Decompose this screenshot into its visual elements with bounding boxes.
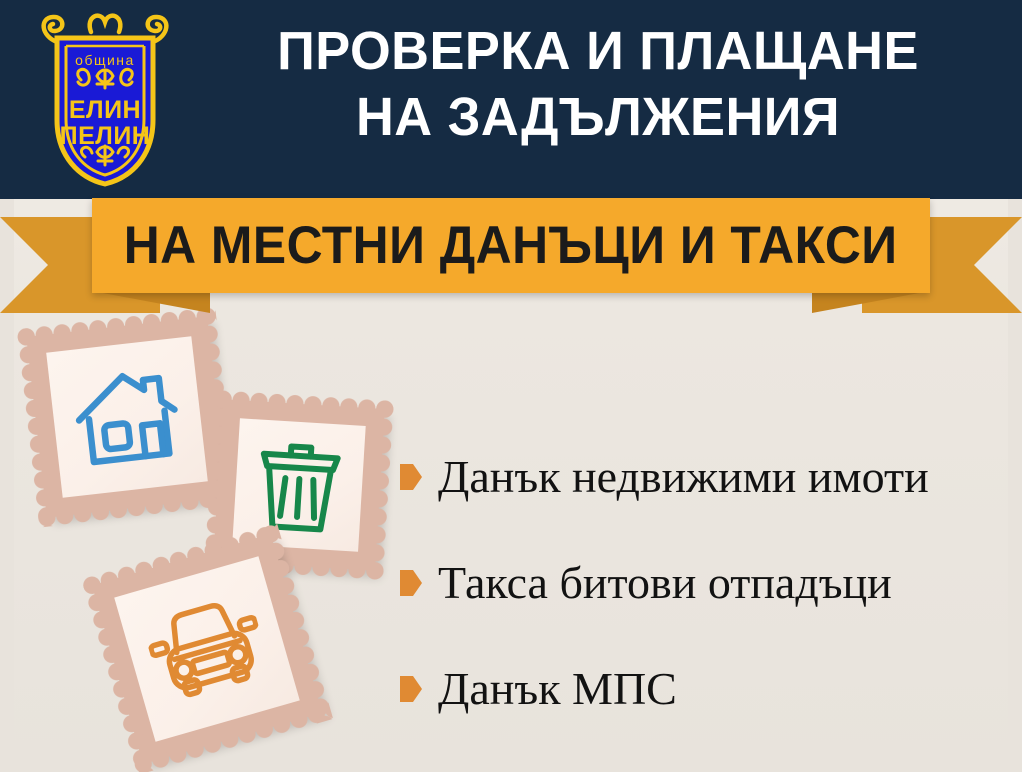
list-item[interactable]: Такса битови отпадъци — [400, 530, 1010, 636]
bullet-arrow-icon — [400, 464, 422, 490]
ribbon-banner: НА МЕСТНИ ДАНЪЦИ И ТАКСИ — [0, 198, 1022, 323]
page-title-line-2: НА ЗАДЪЛЖЕНИЯ — [198, 84, 997, 150]
service-list: Данък недвижими имоти Такса битови отпад… — [400, 424, 1010, 742]
car-front-icon — [140, 589, 273, 708]
stamp-car-inner — [114, 556, 300, 742]
ribbon-band: НА МЕСТНИ ДАНЪЦИ И ТАКСИ — [92, 198, 930, 293]
list-item-label: Такса битови отпадъци — [438, 558, 892, 608]
stamp-card-car — [92, 534, 322, 764]
page-title-line-1: ПРОВЕРКА И ПЛАЩАНЕ — [198, 18, 997, 84]
bullet-arrow-icon — [400, 676, 422, 702]
house-icon — [67, 359, 186, 475]
page-title: ПРОВЕРКА И ПЛАЩАНЕ НА ЗАДЪЛЖЕНИЯ — [186, 18, 1010, 150]
bullet-arrow-icon — [400, 570, 422, 596]
coat-of-arms-icon: община ЕЛИН ПЕЛИН — [35, 8, 175, 190]
list-item-label: Данък недвижими имоти — [438, 452, 929, 502]
trash-bin-icon — [253, 432, 345, 537]
list-item-label: Данък МПС — [438, 664, 677, 714]
svg-text:ЕЛИН: ЕЛИН — [69, 96, 141, 124]
stamp-house-inner — [46, 336, 208, 498]
stamp-card-house — [26, 316, 227, 517]
poster-root: община ЕЛИН ПЕЛИН ПРОВЕРКА И П — [0, 0, 1022, 772]
svg-text:община: община — [75, 52, 135, 68]
list-item[interactable]: Данък недвижими имоти — [400, 424, 1010, 530]
list-item[interactable]: Данък МПС — [400, 636, 1010, 742]
ribbon-label: НА МЕСТНИ ДАНЪЦИ И ТАКСИ — [124, 218, 898, 274]
